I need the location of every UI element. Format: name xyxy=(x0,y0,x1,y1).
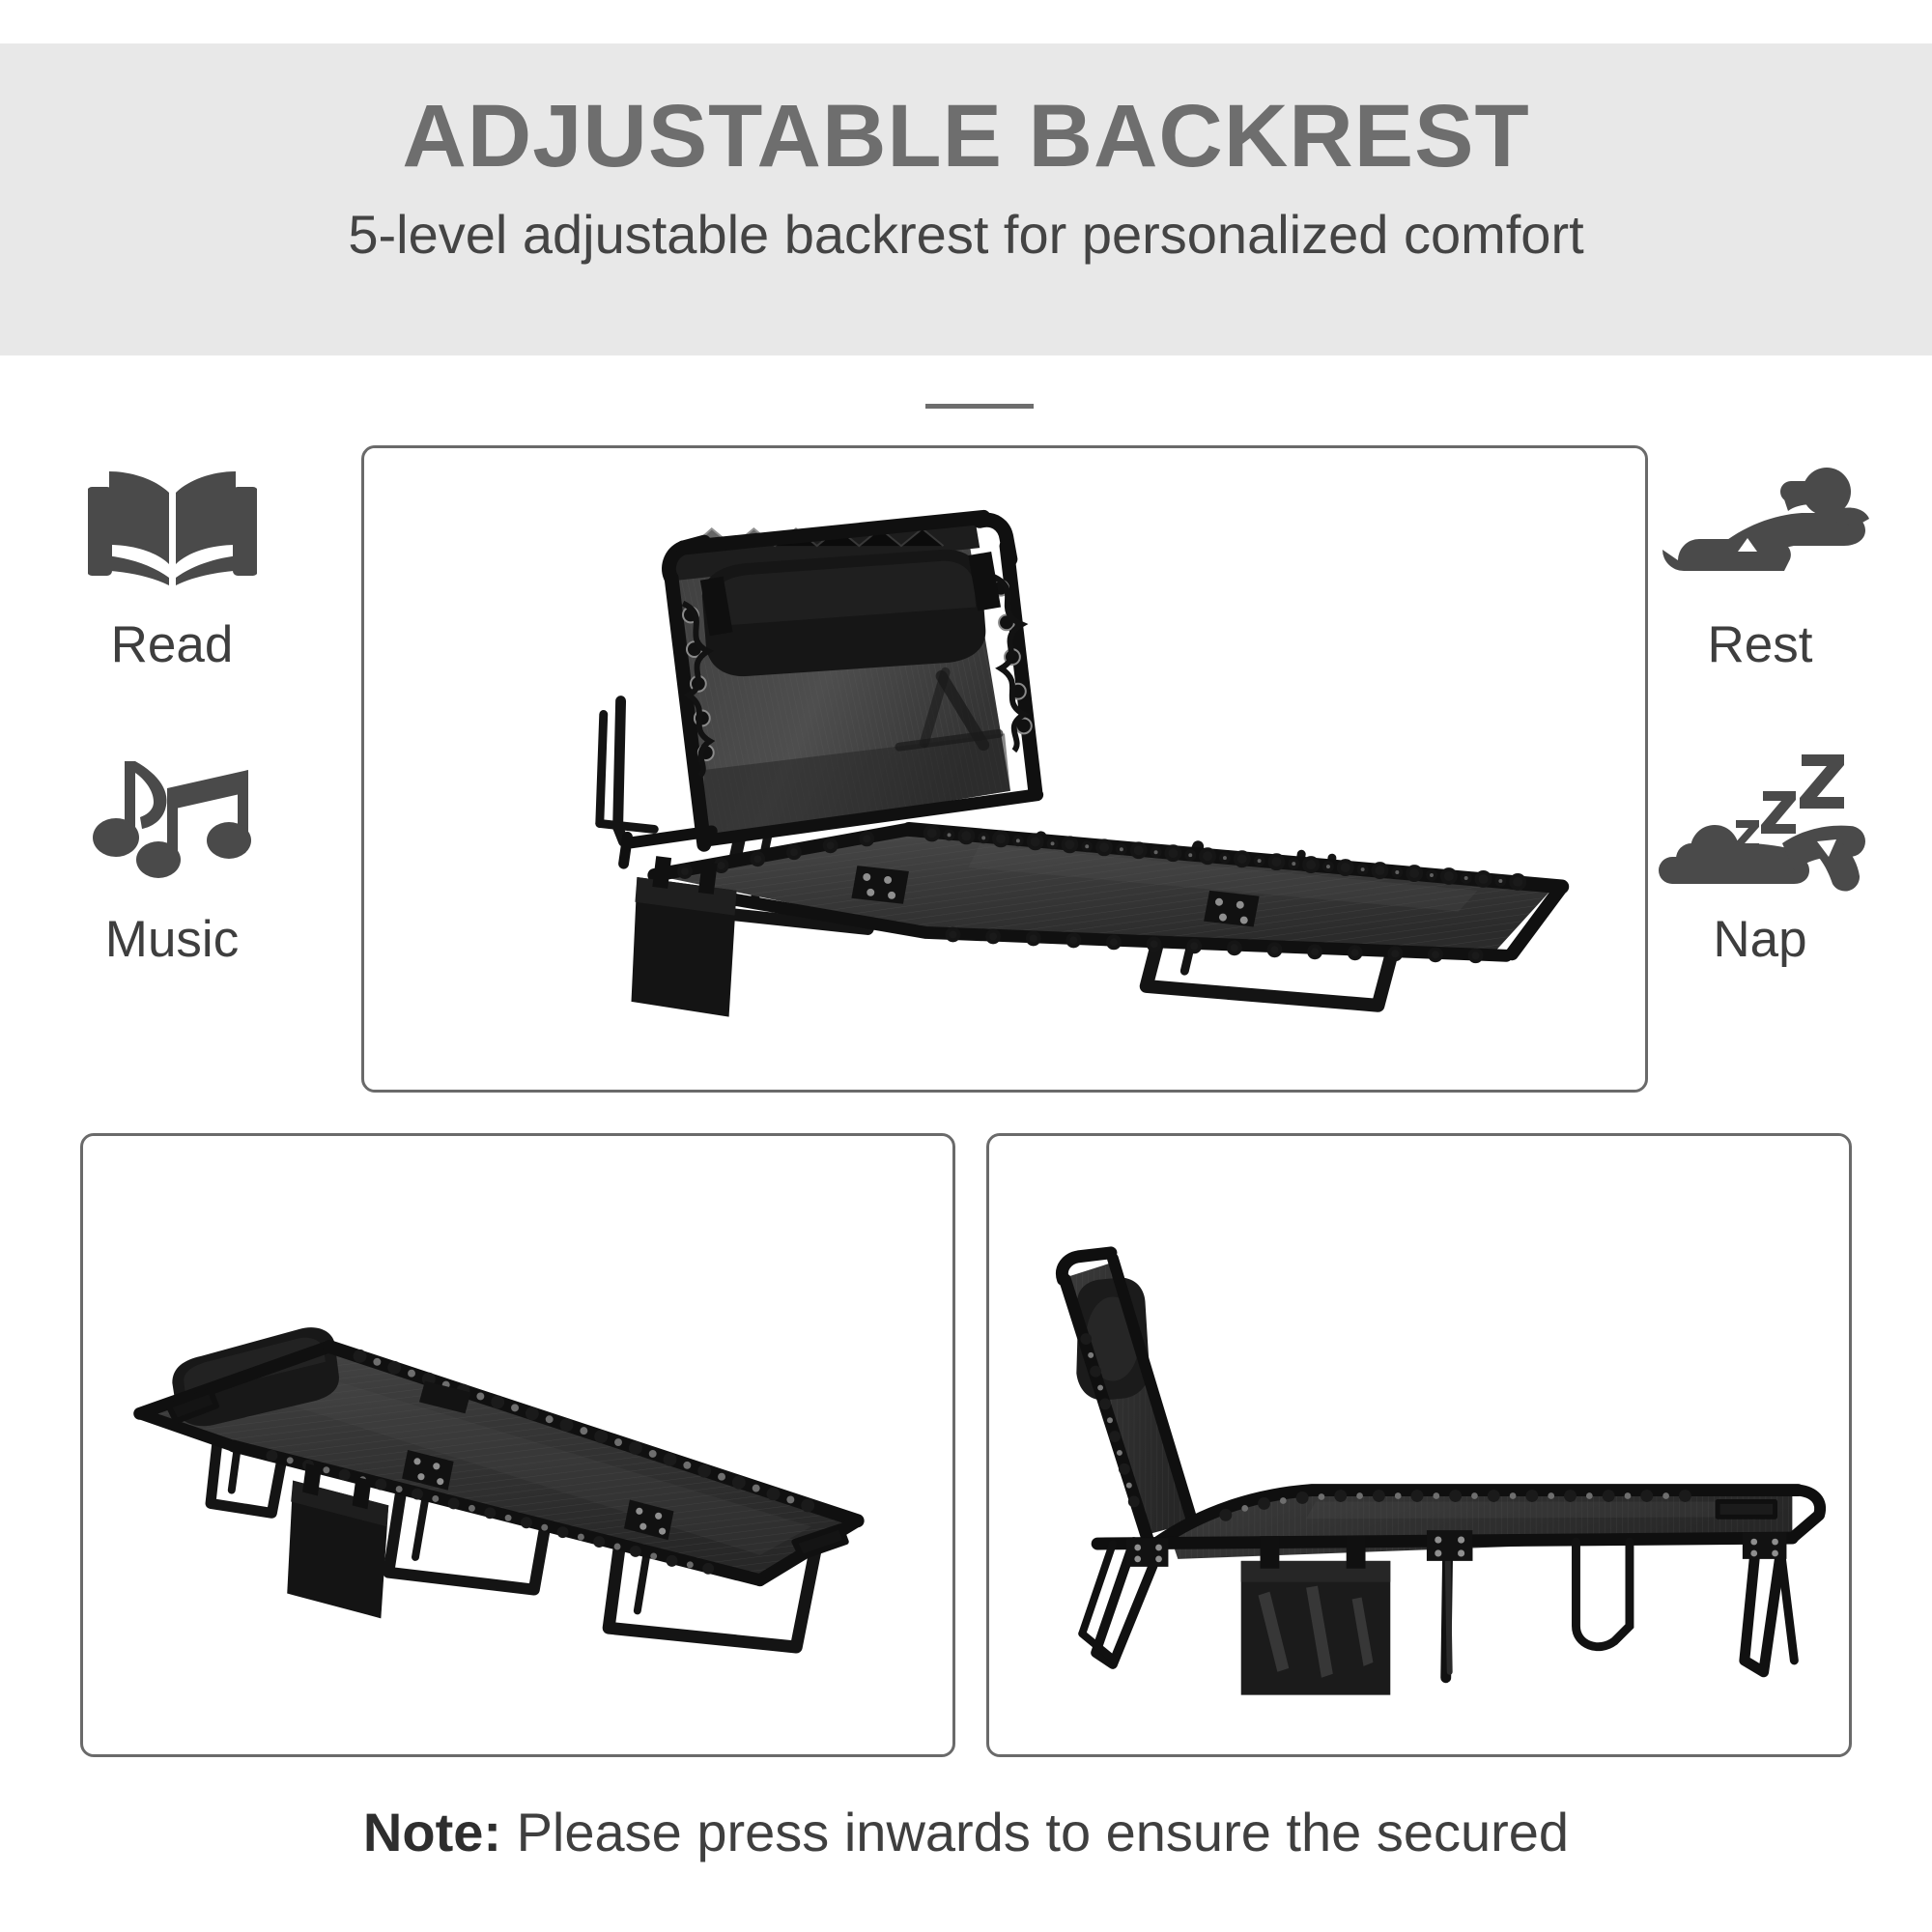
feature-item-music: Music xyxy=(46,734,298,965)
chaise-lounge-flat-illustration xyxy=(83,1136,952,1754)
product-image-panel-flat xyxy=(80,1133,955,1757)
chaise-lounge-raised-backrest-illustration xyxy=(364,448,1645,1090)
feature-item-rest: Rest xyxy=(1634,440,1886,670)
feature-label-music: Music xyxy=(46,914,298,965)
feature-column-left: Read xyxy=(46,440,298,1029)
header-banner: ADJUSTABLE BACKREST 5-level adjustable b… xyxy=(0,43,1932,355)
footer-note-text: Please press inwards to ensure the secur… xyxy=(501,1802,1569,1862)
feature-item-nap: Nap xyxy=(1634,734,1886,965)
page-title: ADJUSTABLE BACKREST xyxy=(0,43,1932,184)
feature-item-read: Read xyxy=(46,440,298,670)
footer-note-label: Note: xyxy=(363,1802,501,1862)
product-image-panel-side-profile xyxy=(986,1133,1852,1757)
feature-label-read: Read xyxy=(46,619,298,670)
music-notes-icon xyxy=(46,734,298,908)
feature-label-rest: Rest xyxy=(1634,619,1886,670)
divider-dash xyxy=(925,404,1034,409)
footer-note: Note: Please press inwards to ensure the… xyxy=(0,1803,1932,1862)
person-reclining-icon xyxy=(1634,440,1886,613)
page-subtitle: 5-level adjustable backrest for personal… xyxy=(0,184,1932,265)
feature-label-nap: Nap xyxy=(1634,914,1886,965)
feature-column-right: Rest xyxy=(1634,440,1886,1029)
chaise-lounge-side-profile-illustration xyxy=(989,1136,1849,1754)
open-book-icon xyxy=(46,440,298,613)
product-image-panel-main xyxy=(361,445,1648,1093)
person-sleeping-zzz-icon xyxy=(1634,734,1886,908)
